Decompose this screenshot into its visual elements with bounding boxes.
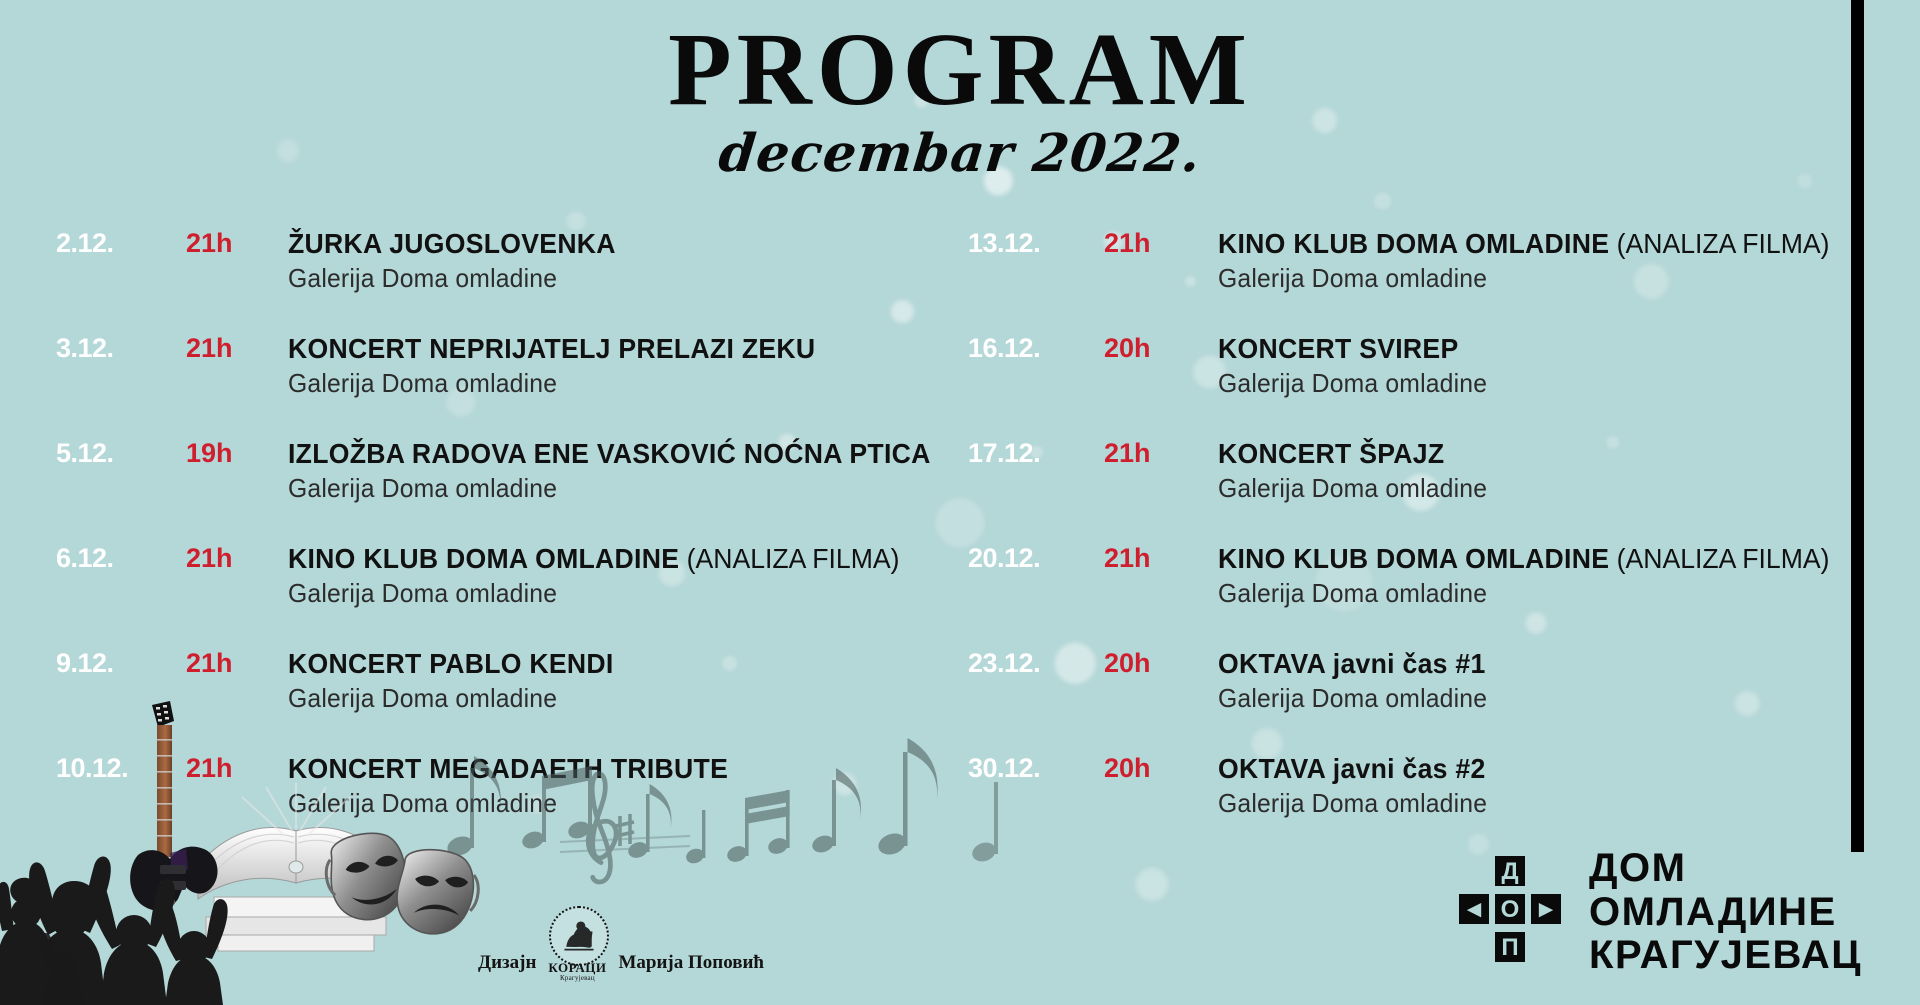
event-title-main: OKTAVA javni čas #2	[1218, 753, 1486, 784]
event-time: 21h	[186, 228, 266, 259]
dok-wordmark: ДОМ ОМЛАДИНЕ КРАГУЈЕВАЦ	[1589, 847, 1862, 977]
event-time: 21h	[1104, 228, 1184, 259]
program-column-left: 2.12.21hŽURKA JUGOSLOVENKAGalerija Doma …	[56, 228, 936, 858]
event-title-main: OKTAVA javni čas #1	[1218, 648, 1486, 679]
event-date: 5.12.	[56, 438, 166, 469]
event-time: 21h	[186, 648, 266, 679]
event-row[interactable]: 2.12.21hŽURKA JUGOSLOVENKAGalerija Doma …	[56, 228, 936, 333]
vertical-rule	[1851, 0, 1864, 852]
event-row[interactable]: 13.12.21hKINO KLUB DOMA OMLADINE (ANALIZ…	[968, 228, 1868, 333]
svg-text:►: ►	[1534, 896, 1558, 923]
event-title-main: KINO KLUB DOMA OMLADINE	[1218, 228, 1609, 259]
event-venue: Galerija Doma omladine	[1218, 263, 1836, 294]
event-venue: Galerija Doma omladine	[288, 473, 904, 504]
event-title: KONCERT MEGADAETH TRIBUTE	[288, 753, 904, 785]
event-title: OKTAVA javni čas #1	[1218, 648, 1836, 680]
event-time: 21h	[1104, 438, 1184, 469]
designer-credit: Дизајн КОРАЦИ Крагујевац Марија Поповић	[478, 906, 764, 980]
credit-label: Дизајн	[478, 952, 536, 980]
event-title-main: KONCERT PABLO KENDI	[288, 648, 614, 679]
event-title-main: KONCERT MEGADAETH TRIBUTE	[288, 753, 728, 784]
svg-text:Д: Д	[1501, 858, 1518, 885]
event-title-suffix: (ANALIZA FILMA)	[1609, 228, 1829, 259]
event-row[interactable]: 16.12.20hKONCERT SVIREPGalerija Doma oml…	[968, 333, 1868, 438]
event-date: 9.12.	[56, 648, 166, 679]
event-venue: Galerija Doma omladine	[1218, 473, 1836, 504]
event-body: ŽURKA JUGOSLOVENKAGalerija Doma omladine	[288, 228, 936, 294]
event-body: KINO KLUB DOMA OMLADINE (ANALIZA FILMA)G…	[1218, 228, 1868, 294]
event-body: OKTAVA javni čas #2Galerija Doma omladin…	[1218, 753, 1868, 819]
event-row[interactable]: 17.12.21hKONCERT ŠPAJZGalerija Doma omla…	[968, 438, 1868, 543]
dom-omladine-logo: Д ◄ О ► П ДОМ ОМЛАДИНЕ КРАГУЈЕВАЦ	[1457, 847, 1862, 977]
event-body: KINO KLUB DOMA OMLADINE (ANALIZA FILMA)G…	[288, 543, 936, 609]
event-body: KONCERT MEGADAETH TRIBUTEGalerija Doma o…	[288, 753, 936, 819]
event-row[interactable]: 23.12.20hOKTAVA javni čas #1Galerija Dom…	[968, 648, 1868, 753]
event-date: 3.12.	[56, 333, 166, 364]
event-venue: Galerija Doma omladine	[288, 788, 904, 819]
event-body: OKTAVA javni čas #1Galerija Doma omladin…	[1218, 648, 1868, 714]
event-date: 6.12.	[56, 543, 166, 574]
svg-text:◄: ◄	[1462, 896, 1486, 923]
event-title: ŽURKA JUGOSLOVENKA	[288, 228, 904, 260]
event-venue: Galerija Doma omladine	[288, 368, 904, 399]
page-title: PROGRAM	[0, 18, 1920, 122]
event-time: 21h	[186, 543, 266, 574]
event-body: KONCERT PABLO KENDIGalerija Doma omladin…	[288, 648, 936, 714]
event-venue: Galerija Doma omladine	[288, 578, 904, 609]
koraci-name: КОРАЦИ	[546, 961, 608, 975]
event-title: OKTAVA javni čas #2	[1218, 753, 1836, 785]
program-column-right: 13.12.21hKINO KLUB DOMA OMLADINE (ANALIZ…	[968, 228, 1868, 858]
event-venue: Galerija Doma omladine	[1218, 578, 1836, 609]
koraci-city: Крагујевац	[546, 974, 608, 982]
event-date: 30.12.	[968, 753, 1078, 784]
event-title: KINO KLUB DOMA OMLADINE (ANALIZA FILMA)	[288, 543, 904, 575]
crowd-silhouette-icon	[0, 857, 228, 1005]
event-title-main: ŽURKA JUGOSLOVENKA	[288, 228, 616, 259]
event-title-main: KINO KLUB DOMA OMLADINE	[288, 543, 679, 574]
event-title-suffix: (ANALIZA FILMA)	[679, 543, 899, 574]
event-title-main: KONCERT ŠPAJZ	[1218, 438, 1444, 469]
event-row[interactable]: 30.12.20hOKTAVA javni čas #2Galerija Dom…	[968, 753, 1868, 858]
svg-text:П: П	[1501, 934, 1518, 961]
event-title: KONCERT PABLO KENDI	[288, 648, 904, 680]
event-body: KONCERT SVIREPGalerija Doma omladine	[1218, 333, 1868, 399]
event-title-main: KINO KLUB DOMA OMLADINE	[1218, 543, 1609, 574]
event-row[interactable]: 9.12.21hKONCERT PABLO KENDIGalerija Doma…	[56, 648, 936, 753]
event-row[interactable]: 5.12.19hIZLOŽBA RADOVA ENE VASKOVIĆ NOĆN…	[56, 438, 936, 543]
event-time: 19h	[186, 438, 266, 469]
event-title-main: IZLOŽBA RADOVA ENE VASKOVIĆ NOĆNA PTICA	[288, 438, 931, 469]
event-time: 21h	[186, 333, 266, 364]
koraci-emblem-icon	[549, 906, 609, 966]
event-venue: Galerija Doma omladine	[288, 683, 904, 714]
event-time: 21h	[186, 753, 266, 784]
event-time: 20h	[1104, 753, 1184, 784]
event-title-main: KONCERT NEPRIJATELJ PRELAZI ZEKU	[288, 333, 815, 364]
brand-line-2: ОМЛАДИНЕ	[1589, 891, 1862, 934]
event-row[interactable]: 20.12.21hKINO KLUB DOMA OMLADINE (ANALIZ…	[968, 543, 1868, 648]
event-venue: Galerija Doma omladine	[1218, 368, 1836, 399]
event-title: KONCERT SVIREP	[1218, 333, 1836, 365]
event-row[interactable]: 3.12.21hKONCERT NEPRIJATELJ PRELAZI ZEKU…	[56, 333, 936, 438]
event-venue: Galerija Doma omladine	[288, 263, 904, 294]
event-body: KONCERT ŠPAJZGalerija Doma omladine	[1218, 438, 1868, 504]
event-title: KONCERT NEPRIJATELJ PRELAZI ZEKU	[288, 333, 904, 365]
event-body: IZLOŽBA RADOVA ENE VASKOVIĆ NOĆNA PTICAG…	[288, 438, 936, 504]
event-title: IZLOŽBA RADOVA ENE VASKOVIĆ NOĆNA PTICA	[288, 438, 904, 470]
event-venue: Galerija Doma omladine	[1218, 788, 1836, 819]
designer-name: Марија Поповић	[618, 952, 764, 980]
event-title: KONCERT ŠPAJZ	[1218, 438, 1836, 470]
event-time: 21h	[1104, 543, 1184, 574]
koraci-logo: КОРАЦИ Крагујевац	[546, 906, 608, 980]
event-date: 13.12.	[968, 228, 1078, 259]
event-title: KINO KLUB DOMA OMLADINE (ANALIZA FILMA)	[1218, 228, 1836, 260]
brand-line-1: ДОМ	[1589, 847, 1862, 890]
event-title-suffix: (ANALIZA FILMA)	[1609, 543, 1829, 574]
event-date: 2.12.	[56, 228, 166, 259]
event-date: 10.12.	[56, 753, 166, 784]
event-time: 20h	[1104, 648, 1184, 679]
event-venue: Galerija Doma omladine	[1218, 683, 1836, 714]
svg-text:О: О	[1501, 896, 1520, 923]
event-title: KINO KLUB DOMA OMLADINE (ANALIZA FILMA)	[1218, 543, 1836, 575]
event-date: 23.12.	[968, 648, 1078, 679]
event-body: KINO KLUB DOMA OMLADINE (ANALIZA FILMA)G…	[1218, 543, 1868, 609]
event-row[interactable]: 10.12.21hKONCERT MEGADAETH TRIBUTEGaleri…	[56, 753, 936, 858]
page-subtitle: decembar 2022.	[0, 128, 1920, 180]
event-title-main: KONCERT SVIREP	[1218, 333, 1458, 364]
event-row[interactable]: 6.12.21hKINO KLUB DOMA OMLADINE (ANALIZA…	[56, 543, 936, 648]
event-date: 20.12.	[968, 543, 1078, 574]
event-date: 16.12.	[968, 333, 1078, 364]
event-body: KONCERT NEPRIJATELJ PRELAZI ZEKUGalerija…	[288, 333, 936, 399]
brand-line-3: КРАГУЈЕВАЦ	[1589, 934, 1862, 977]
event-time: 20h	[1104, 333, 1184, 364]
event-date: 17.12.	[968, 438, 1078, 469]
dok-mark-icon: Д ◄ О ► П	[1457, 854, 1563, 970]
poster-canvas: PROGRAM decembar 2022. 2.12.21hŽURKA JUG…	[0, 0, 1920, 1005]
